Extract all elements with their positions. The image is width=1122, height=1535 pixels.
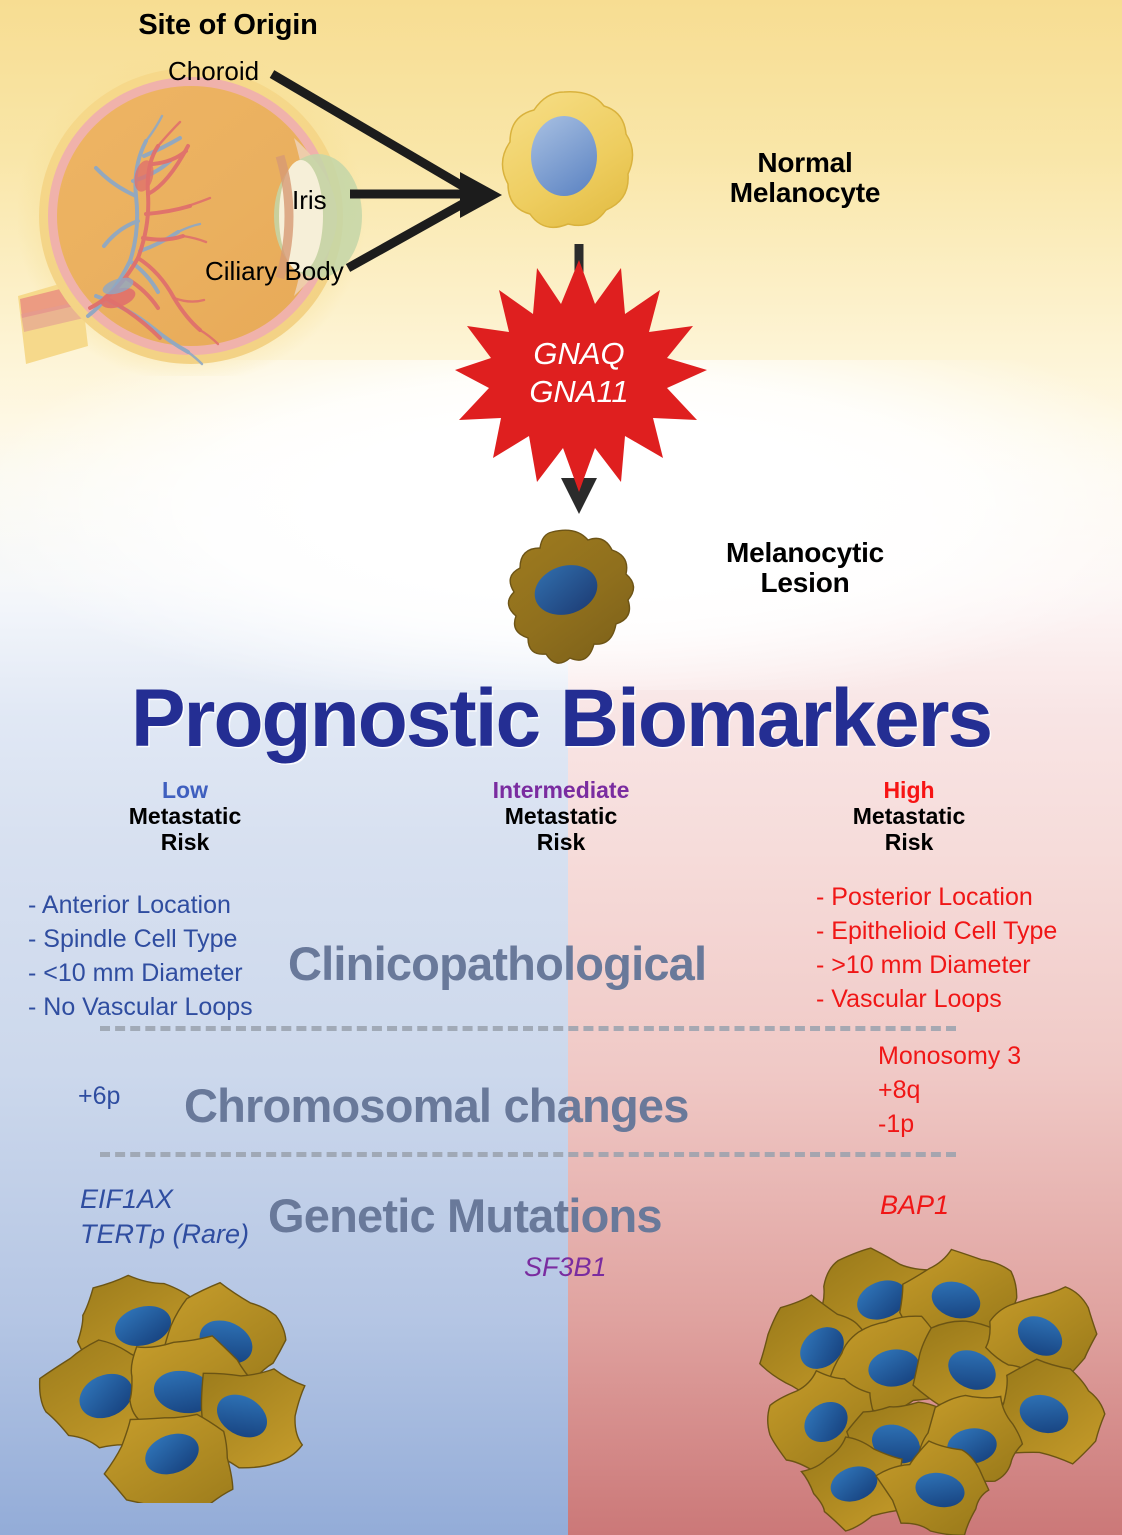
melanocyte-nucleus <box>531 116 597 196</box>
risk-sub-low-2: Risk <box>30 830 340 856</box>
normal-melanocyte-line1: Normal <box>757 147 852 178</box>
risk-header-intermediate: Intermediate Metastatic Risk <box>406 778 716 855</box>
genetic-intermediate-item: SF3B1 <box>524 1250 607 1285</box>
chromosomal-high-list: Monosomy 3+8q-1p <box>878 1039 1021 1141</box>
normal-melanocyte-line2: Melanocyte <box>730 177 881 208</box>
chromosomal-high-item: +8q <box>878 1073 1021 1107</box>
risk-sub-high-2: Risk <box>754 830 1064 856</box>
clinicopathological-low-list: - Anterior Location- Spindle Cell Type- … <box>28 888 253 1024</box>
genetic-high-item: BAP1 <box>880 1188 949 1223</box>
risk-sub-high-1: Metastatic <box>754 804 1064 830</box>
risk-header-high: High Metastatic Risk <box>754 778 1064 855</box>
burst-gene-gnaq: GNAQ <box>533 336 624 371</box>
tumor-cluster-low-risk <box>30 1268 350 1503</box>
clinicopathological-high-list: - Posterior Location- Epithelioid Cell T… <box>816 880 1057 1016</box>
arrow-line-ciliary <box>348 202 466 268</box>
genetic-low-list: EIF1AXTERTp (Rare) <box>80 1182 249 1252</box>
genetic-intermediate-list: SF3B1 <box>524 1250 607 1285</box>
burst-gene-gna11: GNA11 <box>529 374 628 409</box>
mutation-burst-group: GNAQ GNA11 <box>455 238 715 518</box>
melanocytic-lesion-line2: Lesion <box>760 567 849 598</box>
melanocytic-lesion-cell <box>492 518 672 678</box>
risk-level-low: Low <box>30 778 340 804</box>
clinicopathological-low-item: - Anterior Location <box>28 888 253 922</box>
figure-root: Site of Origin <box>0 0 1122 1535</box>
separator-clinicopathological <box>100 1026 956 1031</box>
clinicopathological-high-item: - Epithelioid Cell Type <box>816 914 1057 948</box>
category-label-chromosomal: Chromosomal changes <box>184 1078 689 1133</box>
genetic-low-item: TERTp (Rare) <box>80 1217 249 1252</box>
eye-label-choroid: Choroid <box>168 56 259 87</box>
clinicopathological-low-item: - No Vascular Loops <box>28 990 253 1024</box>
risk-level-high: High <box>754 778 1064 804</box>
chromosomal-low-item: +6p <box>78 1079 120 1113</box>
risk-sub-intermediate-1: Metastatic <box>406 804 716 830</box>
site-of-origin-title: Site of Origin <box>0 10 456 41</box>
clinicopathological-high-item: - >10 mm Diameter <box>816 948 1057 982</box>
tumor-cluster-high-risk <box>728 1238 1122 1535</box>
risk-sub-intermediate-2: Risk <box>406 830 716 856</box>
genetic-high-list: BAP1 <box>880 1188 949 1223</box>
normal-melanocyte-cell <box>492 88 652 248</box>
risk-header-low: Low Metastatic Risk <box>30 778 340 855</box>
normal-melanocyte-label: Normal Melanocyte <box>660 148 950 208</box>
page-title: Prognostic Biomarkers <box>0 678 1122 760</box>
chromosomal-low-list: +6p <box>78 1079 120 1113</box>
clinicopathological-high-item: - Vascular Loops <box>816 982 1057 1016</box>
melanocytic-lesion-label: Melanocytic Lesion <box>660 538 950 598</box>
clinicopathological-low-item: - <10 mm Diameter <box>28 956 253 990</box>
melanocytic-lesion-line1: Melanocytic <box>726 537 884 568</box>
separator-chromosomal <box>100 1152 956 1157</box>
category-label-clinicopathological: Clinicopathological <box>288 936 706 991</box>
risk-sub-low-1: Metastatic <box>30 804 340 830</box>
category-label-genetic: Genetic Mutations <box>268 1188 662 1243</box>
risk-level-intermediate: Intermediate <box>406 778 716 804</box>
chromosomal-high-item: Monosomy 3 <box>878 1039 1021 1073</box>
clinicopathological-high-item: - Posterior Location <box>816 880 1057 914</box>
genetic-low-item: EIF1AX <box>80 1182 249 1217</box>
chromosomal-high-item: -1p <box>878 1107 1021 1141</box>
clinicopathological-low-item: - Spindle Cell Type <box>28 922 253 956</box>
arrow-line-choroid <box>272 74 466 188</box>
